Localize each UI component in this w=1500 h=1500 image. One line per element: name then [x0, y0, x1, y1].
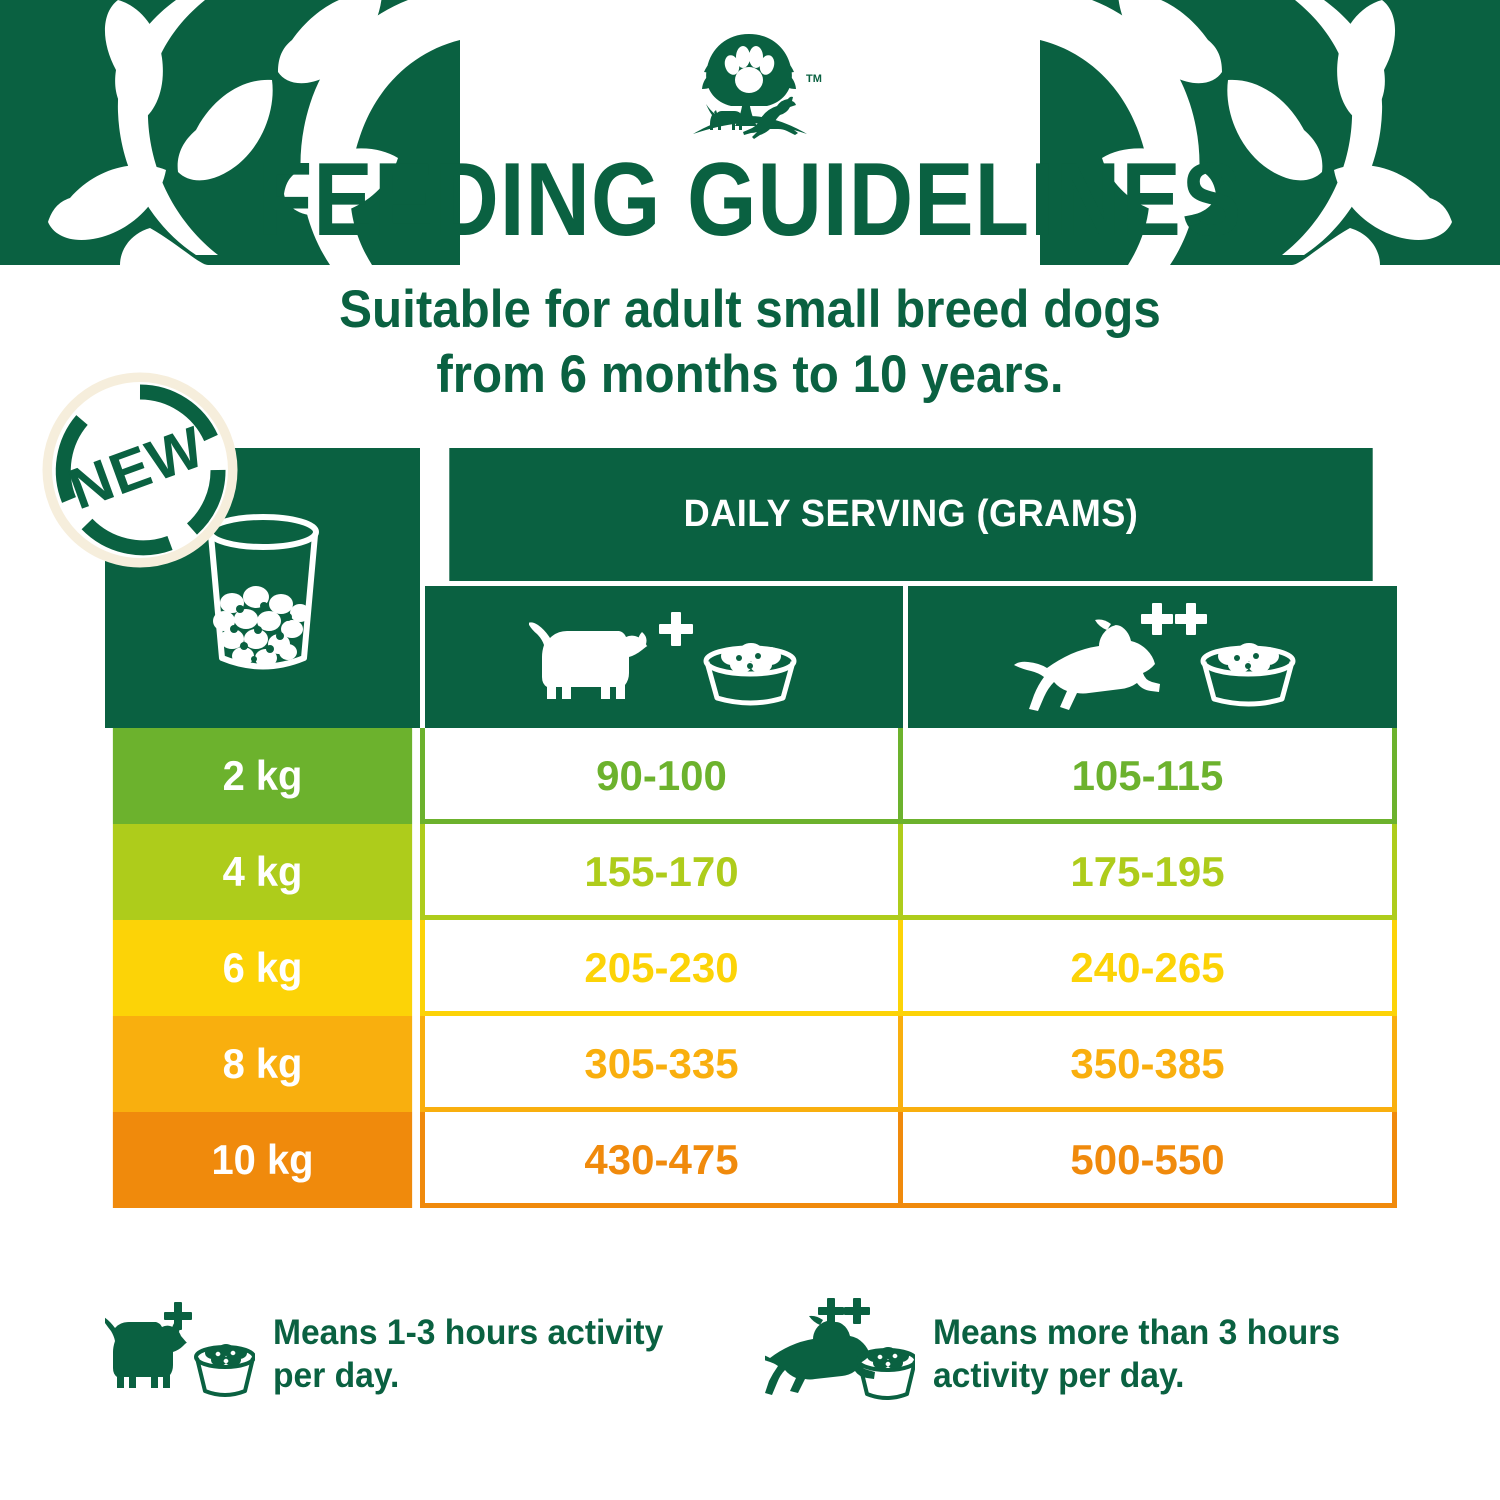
legend-low-line-1: Means 1-3 hours activity: [273, 1312, 663, 1355]
low-activity-header-cell: [425, 586, 903, 728]
low-activity-value-cell: 155-170: [420, 824, 903, 920]
high-activity-value-cell: 350-385: [903, 1016, 1397, 1112]
legend-text-high-activity: Means more than 3 hours activity per day…: [933, 1312, 1340, 1397]
legend-item-high-activity: Means more than 3 hours activity per day…: [765, 1296, 1405, 1408]
standing-dog-bowl-icon: [105, 1296, 255, 1408]
high-activity-value-cell: 175-195: [903, 824, 1397, 920]
legend-high-line-1: Means more than 3 hours: [933, 1312, 1340, 1355]
legend-item-low-activity: Means 1-3 hours activity per day.: [105, 1296, 765, 1408]
new-badge: NEW: [42, 372, 238, 568]
table-row: 2 kg90-100105-115: [105, 728, 1397, 824]
weight-cell: 8 kg: [113, 1016, 412, 1112]
weight-cell: 4 kg: [113, 824, 412, 920]
table-body: 2 kg90-100105-1154 kg155-170175-1956 kg2…: [105, 728, 1397, 1208]
page-subtitle: Suitable for adult small breed dogs from…: [53, 277, 1448, 407]
table-row: 4 kg155-170175-195: [105, 824, 1397, 920]
low-activity-value-cell: 90-100: [420, 728, 903, 824]
low-activity-value-cell: 205-230: [420, 920, 903, 1016]
page-title: FEEDING GUIDELINES: [105, 148, 1395, 252]
standing-dog-bowl-icon: [529, 602, 799, 712]
daily-serving-header: DAILY SERVING (GRAMS): [449, 448, 1372, 581]
brand-logo: TM: [675, 22, 825, 140]
low-activity-value-cell: 430-475: [420, 1112, 903, 1208]
table-row: 8 kg305-335350-385: [105, 1016, 1397, 1112]
high-activity-value-cell: 105-115: [903, 728, 1397, 824]
feeding-table: DAILY SERVING (GRAMS): [105, 448, 1397, 1208]
low-activity-value-cell: 305-335: [420, 1016, 903, 1112]
table-row: 10 kg430-475500-550: [105, 1112, 1397, 1208]
subtitle-line-2: from 6 months to 10 years.: [53, 342, 1448, 407]
subtitle-line-1: Suitable for adult small breed dogs: [53, 277, 1448, 342]
weight-cell: 2 kg: [113, 728, 412, 824]
legend-text-low-activity: Means 1-3 hours activity per day.: [273, 1312, 663, 1397]
weight-cell: 10 kg: [113, 1112, 412, 1208]
legend-low-line-2: per day.: [273, 1355, 663, 1398]
weight-cell: 6 kg: [113, 920, 412, 1016]
high-activity-value-cell: 240-265: [903, 920, 1397, 1016]
legend-high-line-2: activity per day.: [933, 1355, 1340, 1398]
activity-icon-row: [425, 586, 1397, 728]
table-header: DAILY SERVING (GRAMS): [105, 448, 1397, 728]
feeding-guidelines-infographic: TM FEEDING GUIDELINES Suitable for adult…: [0, 0, 1500, 1500]
trademark-mark: TM: [806, 73, 822, 85]
jumping-dog-bowl-icon: [1008, 597, 1298, 717]
table-header-right: DAILY SERVING (GRAMS): [425, 448, 1397, 728]
high-activity-header-cell: [908, 586, 1397, 728]
table-row: 6 kg205-230240-265: [105, 920, 1397, 1016]
jumping-dog-bowl-icon: [765, 1296, 915, 1408]
activity-legend: Means 1-3 hours activity per day.: [105, 1296, 1405, 1408]
high-activity-value-cell: 500-550: [903, 1112, 1397, 1208]
